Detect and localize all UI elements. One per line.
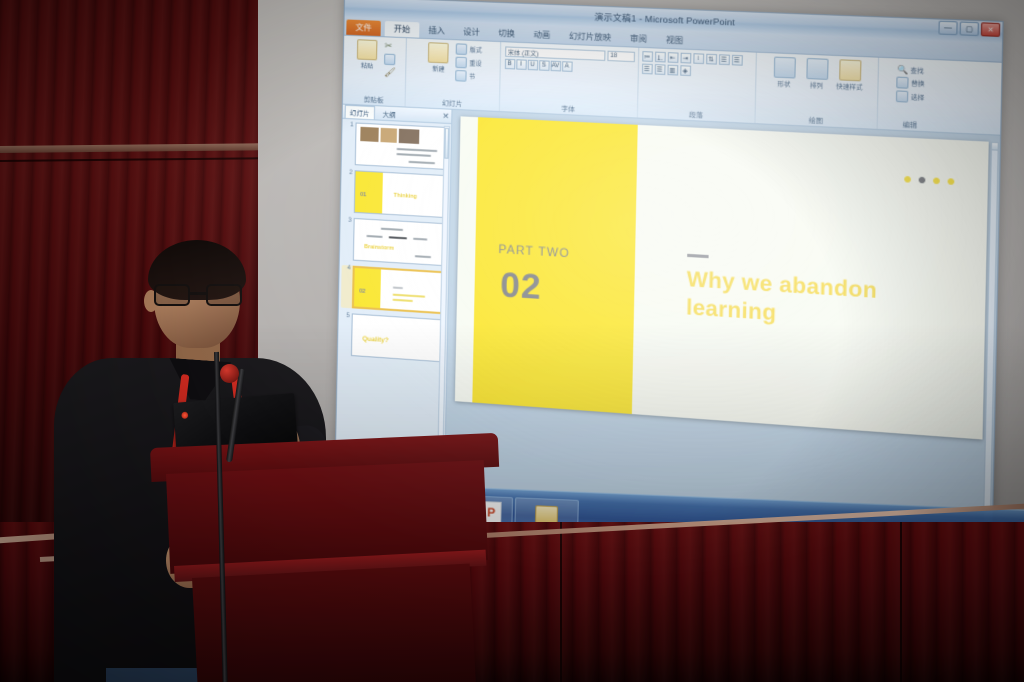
tab-file[interactable]: 文件 [346, 19, 381, 36]
thumb-text-line [393, 294, 426, 298]
tab-design[interactable]: 设计 [454, 24, 489, 41]
thumb-text-line [408, 161, 435, 164]
current-slide[interactable]: PART TWO 02 Why we abandon learning [455, 116, 989, 439]
thumbnail-slide-4[interactable]: 02 [352, 266, 446, 315]
thumb-accent-bar [355, 171, 383, 213]
wall-trim [0, 143, 258, 153]
replace-icon [897, 77, 909, 89]
underline-button[interactable]: U [527, 60, 538, 71]
list-item[interactable]: 1 [344, 122, 449, 170]
replace-button[interactable]: 替换 [897, 77, 925, 90]
thumbnail-slide-1[interactable] [355, 122, 449, 170]
replace-label: 替换 [911, 78, 925, 88]
copy-button[interactable] [384, 54, 396, 66]
close-icon[interactable]: ✕ [442, 111, 449, 121]
text-direction-icon[interactable]: ⇅ [706, 54, 717, 65]
tab-outline-pane[interactable]: 大纲 [378, 107, 400, 120]
align-left-icon[interactable]: ☰ [718, 54, 729, 65]
slide-heading-dash [687, 254, 708, 258]
slide-part-number: 02 [500, 267, 542, 305]
thumb-text-line [397, 148, 438, 152]
glasses-icon [154, 284, 242, 306]
justify-icon[interactable]: ☰ [654, 64, 665, 75]
format-painter-button[interactable]: 🖌 [384, 67, 396, 79]
new-slide-label: 新建 [432, 64, 444, 74]
ribbon-group-paragraph: ≔ ⒈ ⇤ ⇥ ↕ ⇅ ☰ ☰ ☰ ☰ ▥ ◈ [638, 48, 757, 123]
cut-button[interactable]: ✂ [385, 40, 397, 52]
slide-edit-area[interactable]: PART TWO 02 Why we abandon learning [444, 110, 1001, 542]
quick-styles-icon [839, 59, 861, 81]
slide-heading[interactable]: Why we abandon learning [686, 267, 967, 340]
thumb-text-line [389, 236, 407, 239]
thumb-caption: Brainstorm [364, 244, 394, 252]
list-item[interactable]: 4 02 [341, 265, 446, 314]
podium [150, 448, 498, 682]
arrange-button[interactable]: 排列 [801, 58, 832, 91]
thumb-number: 4 [342, 265, 351, 272]
thumb-text-line [381, 228, 403, 231]
select-label: 选择 [911, 92, 925, 102]
glasses-lens-left [154, 284, 190, 306]
window-controls: — ▢ ✕ [938, 21, 1000, 37]
panel-seam [900, 522, 902, 682]
quick-styles-button[interactable]: 快速样式 [834, 59, 865, 92]
thumb-photo [380, 128, 397, 143]
thumb-number: 1 [344, 122, 353, 129]
tab-review[interactable]: 审阅 [620, 30, 656, 47]
numbered-list-icon[interactable]: ⒈ [654, 52, 665, 63]
glasses-bridge [190, 292, 206, 295]
paste-button[interactable]: 粘贴 [353, 39, 382, 78]
character-spacing-button[interactable]: AV [550, 61, 561, 72]
thumb-text-line [413, 238, 427, 241]
smartart-icon[interactable]: ◈ [680, 65, 691, 76]
slide-accent-panel [473, 117, 638, 414]
find-label: 查找 [910, 65, 924, 75]
thumb-number: 5 [341, 313, 350, 320]
thumb-part-number: 02 [359, 288, 365, 294]
font-color-button[interactable]: A [561, 61, 572, 72]
bullet-list-icon[interactable]: ≔ [642, 51, 653, 62]
thumbnail-slide-3[interactable]: Brainstorm [353, 218, 447, 266]
select-icon [896, 90, 908, 102]
search-icon: 🔍 [897, 65, 908, 75]
scissors-icon: ✂ [385, 40, 393, 52]
format-painter-icon: 🖌 [384, 67, 396, 79]
thumb-part-number: 01 [360, 192, 366, 198]
tab-slideshow[interactable]: 幻灯片放映 [559, 28, 620, 46]
find-button[interactable]: 🔍 查找 [897, 65, 925, 76]
screenshot-stage: 演示文稿1 - Microsoft PowerPoint — ▢ ✕ 文件 开始… [0, 0, 1024, 682]
thumbnail-slide-2[interactable]: 01 Thinking [354, 170, 448, 218]
align-center-icon[interactable]: ☰ [731, 55, 742, 66]
align-right-icon[interactable]: ☰ [641, 64, 652, 75]
columns-icon[interactable]: ▥ [667, 65, 678, 76]
minimize-button[interactable]: — [938, 21, 957, 36]
line-spacing-icon[interactable]: ↕ [693, 53, 704, 64]
slide-dot [934, 178, 941, 185]
ribbon-group-editing: 🔍 查找 替换 选择 编辑 [878, 58, 944, 132]
list-item[interactable]: 2 01 Thinking [343, 170, 448, 219]
tab-animations[interactable]: 动画 [524, 27, 560, 44]
thumb-caption: Thinking [394, 193, 417, 200]
podium-base [192, 563, 476, 682]
new-slide-button[interactable]: 新建 [424, 42, 453, 81]
slide-dot-indicator [905, 176, 955, 185]
group-label-editing: 编辑 [878, 117, 942, 131]
shapes-label: 形状 [777, 79, 790, 89]
reset-label: 重设 [469, 58, 482, 68]
thumb-photo [360, 127, 378, 142]
slide-dot-active [919, 177, 926, 184]
ribbon-group-drawing: 形状 排列 快速样式 绘图 [755, 53, 879, 129]
section-icon [456, 70, 468, 82]
layout-button[interactable]: 版式 [456, 43, 482, 55]
thumb-number: 2 [343, 170, 352, 177]
glasses-lens-right [206, 284, 242, 306]
section-button[interactable]: 节 [456, 70, 482, 82]
thumb-text-line [415, 255, 431, 258]
shapes-icon [773, 57, 795, 79]
tab-view[interactable]: 视图 [656, 32, 693, 49]
bold-button[interactable]: B [504, 59, 515, 70]
tab-home[interactable]: 开始 [385, 21, 420, 38]
slide-dot [905, 176, 912, 183]
select-button[interactable]: 选择 [896, 90, 924, 103]
section-label: 节 [469, 72, 475, 82]
shapes-button[interactable]: 形状 [769, 56, 800, 89]
ribbon-group-font: 宋体 (正文) 18 B I U S AV A [500, 42, 639, 117]
strikethrough-button[interactable]: S [539, 60, 550, 71]
close-button[interactable]: ✕ [981, 22, 1000, 37]
scroll-up-arrow[interactable] [992, 143, 998, 151]
layout-icon [456, 43, 468, 55]
tab-transitions[interactable]: 切换 [489, 25, 524, 42]
scrollbar-thumb[interactable] [444, 128, 449, 159]
arrange-icon [806, 58, 828, 80]
microphone-head [220, 364, 239, 383]
ribbon-group-slides: 新建 版式 重设 [406, 38, 502, 111]
reset-icon [456, 57, 468, 69]
copy-icon [384, 54, 395, 66]
tab-insert[interactable]: 插入 [419, 22, 454, 39]
ppt-window-title: 演示文稿1 - Microsoft PowerPoint [594, 11, 735, 29]
thumb-text-line [366, 235, 382, 238]
maximize-button[interactable]: ▢ [960, 21, 979, 36]
italic-button[interactable]: I [516, 59, 527, 70]
wall-seam [0, 157, 258, 162]
paste-icon [357, 39, 378, 60]
thumb-number: 3 [342, 217, 351, 224]
laptop-logo-icon [181, 412, 188, 419]
thumb-dash [393, 286, 403, 289]
reset-button[interactable]: 重设 [456, 57, 482, 69]
arrange-label: 排列 [810, 80, 823, 90]
quick-styles-label: 快速样式 [836, 81, 863, 92]
font-size-input[interactable]: 18 [607, 51, 635, 63]
decrease-indent-icon[interactable]: ⇤ [667, 52, 678, 63]
thumb-text-line [393, 299, 413, 302]
panel-seam [560, 522, 562, 682]
layout-label: 版式 [470, 45, 483, 55]
thumb-photo [399, 129, 420, 144]
list-item[interactable]: 5 Quality? [340, 313, 445, 363]
group-label-clipboard: 剪贴板 [343, 92, 405, 105]
ribbon-group-clipboard: 粘贴 ✂ 🖌 [343, 36, 407, 107]
thumb-text-line [396, 153, 431, 157]
thumb-caption: Quality? [362, 335, 388, 344]
increase-indent-icon[interactable]: ⇥ [680, 53, 691, 64]
tab-slides-pane[interactable]: 幻灯片 [345, 105, 375, 120]
new-slide-icon [428, 42, 449, 63]
list-item[interactable]: 3 Brainstorm [342, 217, 447, 266]
slide-dot [948, 178, 955, 185]
paste-label: 粘贴 [361, 61, 373, 71]
thumb-accent-bar [354, 268, 381, 308]
thumbnail-slide-5[interactable]: Quality? [351, 313, 445, 362]
